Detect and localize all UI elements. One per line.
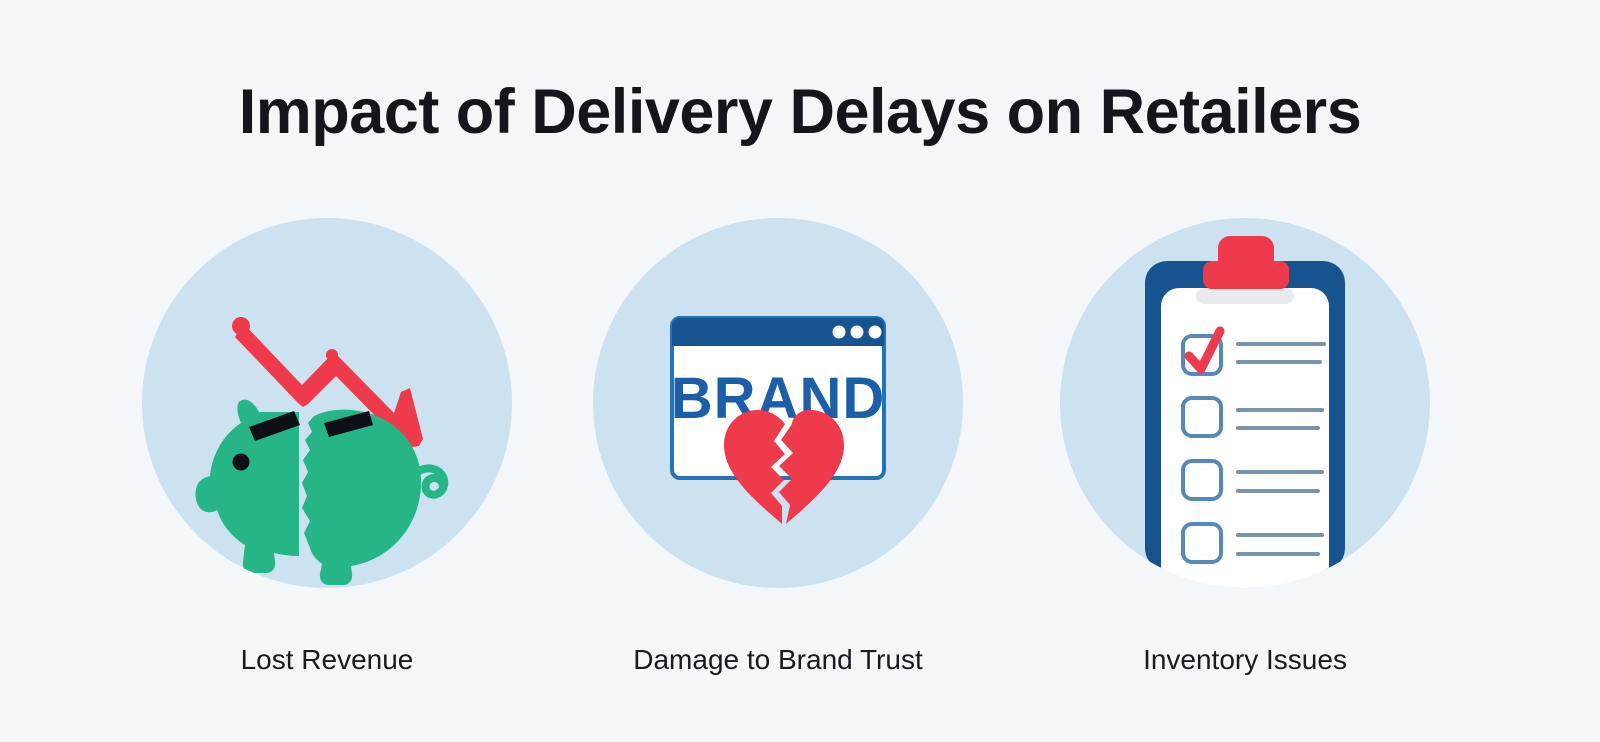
item-label-damage-to-brand-trust: Damage to Brand Trust [548, 643, 1008, 677]
clipboard-checklist-icon [1060, 218, 1430, 588]
piggy-eye [233, 454, 250, 471]
item-lost-revenue: Lost Revenue [97, 218, 557, 718]
text-line [1236, 552, 1320, 556]
text-line [1236, 470, 1324, 474]
infographic-root: Impact of Delivery Delays on Retailers [0, 0, 1600, 742]
broken-piggy-bank-with-down-arrow-icon [142, 218, 512, 588]
text-line [1236, 533, 1324, 537]
items-row: Lost Revenue [0, 218, 1600, 718]
piggy-bank-left-half-icon [196, 400, 300, 573]
piggy-tail-icon [419, 468, 444, 494]
window-dots-icon [833, 326, 882, 339]
item-damage-to-brand-trust: BRAND Damage to Brand Trust [548, 218, 1008, 718]
text-line [1236, 489, 1320, 493]
icon-circle-brand-trust: BRAND [593, 218, 963, 588]
icon-circle-inventory-issues [1060, 218, 1430, 588]
page-title: Impact of Delivery Delays on Retailers [0, 74, 1600, 150]
text-line [1236, 426, 1320, 430]
item-label-lost-revenue: Lost Revenue [97, 643, 557, 677]
clipboard-paper [1161, 288, 1329, 588]
clipboard-clip-icon [1203, 236, 1289, 289]
clip-shadow [1196, 288, 1294, 304]
text-line [1236, 342, 1326, 346]
text-line [1236, 360, 1322, 364]
icon-circle-lost-revenue [142, 218, 512, 588]
item-inventory-issues: Inventory Issues [1015, 218, 1475, 718]
browser-window-with-broken-heart-icon: BRAND [593, 218, 963, 588]
item-label-inventory-issues: Inventory Issues [1015, 643, 1475, 677]
piggy-bank-right-half-icon [302, 410, 444, 585]
text-line [1236, 408, 1324, 412]
